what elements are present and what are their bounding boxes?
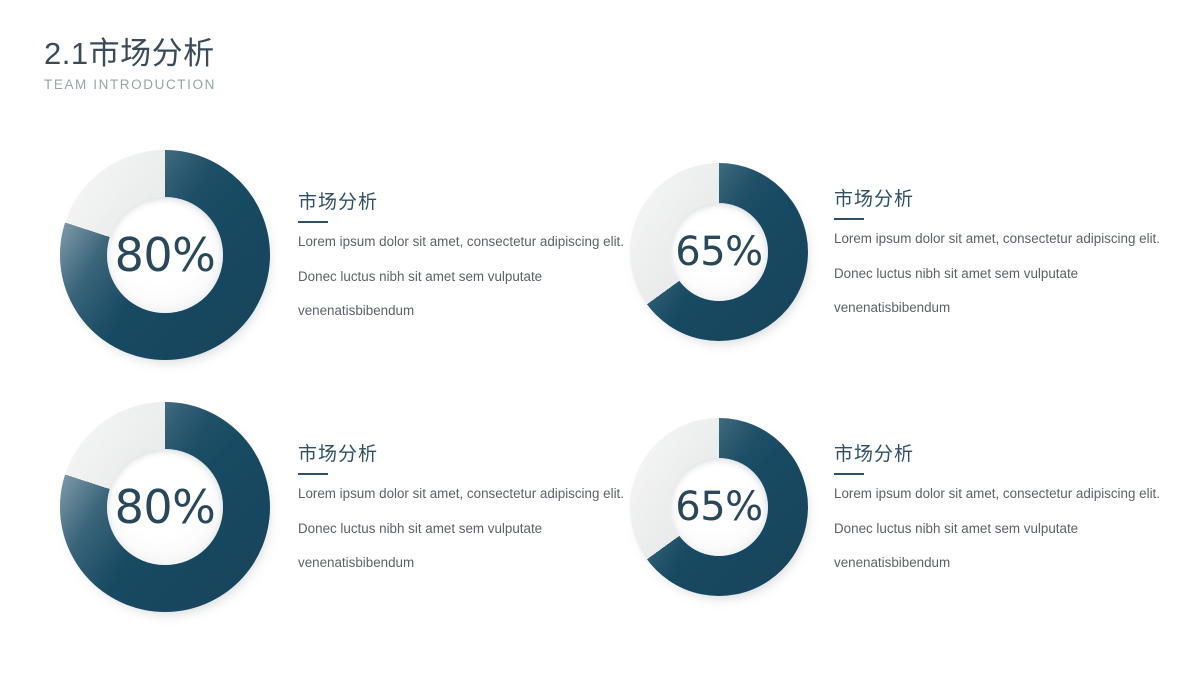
stat-title-4: 市场分析 [834, 444, 1184, 467]
page-title: 2.1市场分析 [44, 36, 216, 73]
stat-body-line-4-3: venenatisbibendum [834, 556, 1184, 569]
slide-header: 2.1市场分析 TEAM INTRODUCTION [44, 36, 216, 92]
donut-value-1: 80% [115, 232, 216, 278]
stat-title-1: 市场分析 [298, 192, 650, 215]
stat-body-line-1-1: Lorem ipsum dolor sit amet, consectetur … [298, 235, 650, 248]
stat-body-line-1-2: Donec luctus nibh sit amet sem vulputate [298, 270, 650, 283]
stat-body-line-3-3: venenatisbibendum [298, 556, 650, 569]
stat-body-line-2-2: Donec luctus nibh sit amet sem vulputate [834, 267, 1184, 280]
donut-value-3: 80% [115, 484, 216, 530]
donut-hole-4: 65% [670, 458, 768, 556]
donut-chart-1[interactable]: 80% [60, 150, 270, 360]
stat-body-line-2-3: venenatisbibendum [834, 301, 1184, 314]
stat-body-line-4-2: Donec luctus nibh sit amet sem vulputate [834, 522, 1184, 535]
title-underline-1 [298, 221, 328, 223]
donut-chart-2[interactable]: 65% [630, 163, 808, 341]
donut-value-4: 65% [675, 487, 762, 527]
stat-body-line-3-1: Lorem ipsum dolor sit amet, consectetur … [298, 487, 650, 500]
donut-hole-3: 80% [107, 449, 223, 565]
stat-body-line-4-1: Lorem ipsum dolor sit amet, consectetur … [834, 487, 1184, 500]
stat-text-block-1: 市场分析 Lorem ipsum dolor sit amet, consect… [298, 192, 650, 317]
donut-chart-3[interactable]: 80% [60, 402, 270, 612]
stat-item-1[interactable]: 80% 市场分析 Lorem ipsum dolor sit amet, con… [60, 150, 650, 360]
stat-title-2: 市场分析 [834, 189, 1184, 212]
stat-text-block-3: 市场分析 Lorem ipsum dolor sit amet, consect… [298, 444, 650, 569]
stats-grid: 80% 市场分析 Lorem ipsum dolor sit amet, con… [0, 150, 1200, 650]
stat-body-line-2-1: Lorem ipsum dolor sit amet, consectetur … [834, 232, 1184, 245]
donut-value-2: 65% [675, 232, 762, 272]
stat-body-line-1-3: venenatisbibendum [298, 304, 650, 317]
stat-text-block-2: 市场分析 Lorem ipsum dolor sit amet, consect… [834, 189, 1184, 314]
stat-title-3: 市场分析 [298, 444, 650, 467]
stat-item-3[interactable]: 80% 市场分析 Lorem ipsum dolor sit amet, con… [60, 402, 650, 612]
page-subtitle: TEAM INTRODUCTION [44, 77, 216, 92]
title-underline-3 [298, 473, 328, 475]
title-underline-4 [834, 473, 864, 475]
stat-item-4[interactable]: 65% 市场分析 Lorem ipsum dolor sit amet, con… [630, 418, 1184, 596]
stat-text-block-4: 市场分析 Lorem ipsum dolor sit amet, consect… [834, 444, 1184, 569]
stat-body-line-3-2: Donec luctus nibh sit amet sem vulputate [298, 522, 650, 535]
donut-hole-2: 65% [670, 203, 768, 301]
title-underline-2 [834, 218, 864, 220]
stat-item-2[interactable]: 65% 市场分析 Lorem ipsum dolor sit amet, con… [630, 163, 1184, 341]
donut-hole-1: 80% [107, 197, 223, 313]
donut-chart-4[interactable]: 65% [630, 418, 808, 596]
